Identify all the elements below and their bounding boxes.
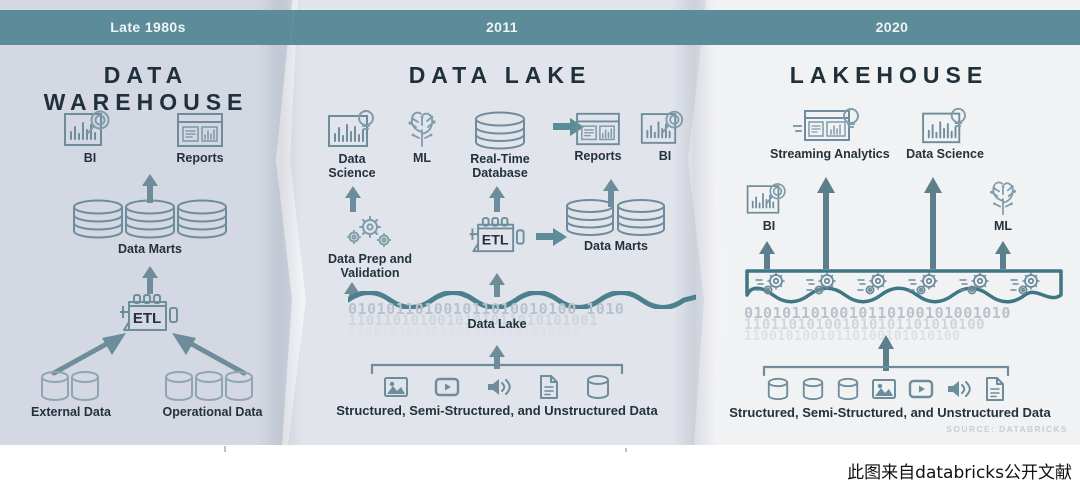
dw-node-reports: Reports [160,110,240,166]
brain-circuit-icon [400,108,444,150]
database-icon [766,377,790,401]
lh-source-icon-row [760,376,1012,402]
dl-node-data-prep: Data Prep and Validation [315,216,425,280]
dl-node-etl: ETL [462,214,534,260]
lh-arrow-engine-to-streaming [815,176,837,270]
lh-node-streaming-analytics-label: Streaming Analytics [770,148,886,162]
document-icon [538,374,560,400]
bar-chart-bulb-icon [919,106,971,146]
cylinder-group-icon [161,368,265,404]
audio-icon [945,377,973,401]
dl-node-bi: BI [634,108,696,164]
dl-node-data-science: Data Science [318,108,386,180]
bar-chart-magnifier-icon [745,180,793,218]
bar-chart-bulb-icon [326,108,378,150]
lh-node-ml-label: ML [975,220,1031,234]
database-cylinders-icon [55,197,245,241]
video-icon [434,376,460,398]
lakehouse-evolution-figure: Late 1980s 2011 2020 DATA WAREHOUSE DATA… [0,0,1080,445]
cylinder-group-icon [35,368,107,404]
lh-arrow-engine-to-bi [757,240,777,270]
dl-node-data-marts-label: Data Marts [556,240,676,254]
database-cylinders-icon [564,196,668,238]
lh-arrow-engine-to-ml [993,240,1013,270]
panel-title-data-warehouse: DATA WAREHOUSE [0,62,292,116]
dl-node-data-marts: Data Marts [556,196,676,254]
dl-node-real-time-database: Real-Time Database [455,108,545,180]
dw-node-data-marts: Data Marts [45,197,255,257]
video-icon [908,378,934,400]
lh-node-bi: BI [738,180,800,234]
database-cylinder-icon [472,108,528,150]
lh-node-ml: ML [975,178,1031,234]
gear-row-wave-icon [744,268,1064,306]
document-icon [984,376,1006,402]
dl-arrow-prep-to-science [343,185,363,213]
dl-node-reports: Reports [560,110,636,164]
dw-node-bi-label: BI [55,152,125,166]
dl-source-bracket [370,362,624,374]
lh-node-data-science-label: Data Science [900,148,990,162]
dl-node-data-prep-label: Data Prep and Validation [315,252,425,280]
dl-arrow-etl-to-db [487,185,507,213]
dl-water-wave-icon [348,291,696,309]
figure-caption: 此图来自databricks公开文献 [847,458,1072,483]
image-icon [871,377,897,401]
dl-node-real-time-database-label: Real-Time Database [455,152,545,180]
audio-icon [485,375,513,399]
image-icon [383,375,409,399]
database-icon [836,377,860,401]
dw-arrow-etl-to-marts [139,265,161,295]
panel-title-data-lake: DATA LAKE [288,62,712,89]
database-icon [801,377,825,401]
gears-icon [340,216,400,250]
lh-node-data-science: Data Science [900,106,990,162]
etl-engine-icon: ETL [462,214,534,260]
dl-node-data-science-label: Data Science [318,152,386,180]
era-label-2020: 2020 [706,10,1078,45]
svg-text:ETL: ETL [133,310,161,327]
dashboard-report-icon [174,110,226,150]
dw-node-external-data: External Data [12,368,130,420]
svg-text:ETL: ETL [482,233,509,249]
database-icon [585,374,611,400]
lh-sources-label: Structured, Semi-Structured, and Unstruc… [710,405,1070,420]
panel-title-lakehouse: LAKEHOUSE [702,62,1076,89]
lh-source-bracket [762,364,1010,376]
bar-chart-magnifier-icon [639,108,691,148]
dw-node-bi: BI [55,108,125,166]
lh-node-streaming-analytics: Streaming Analytics [770,106,886,162]
screenshot-root: Late 1980s 2011 2020 DATA WAREHOUSE DATA… [0,0,1080,500]
bar-chart-magnifier-icon [62,108,118,150]
lh-node-lakehouse-engine [744,268,1064,306]
dw-node-reports-label: Reports [160,152,240,166]
crop-tick-left [224,446,226,452]
dw-node-operational-data: Operational Data [140,368,285,420]
dl-node-ml: ML [395,108,449,166]
era-label-late-1980s: Late 1980s [0,10,296,45]
dl-source-icon-row [370,374,624,400]
lh-node-bi-label: BI [738,220,800,234]
dl-node-bi-label: BI [634,150,696,164]
dl-sources-label: Structured, Semi-Structured, and Unstruc… [322,403,672,418]
dl-node-ml-label: ML [395,152,449,166]
dl-node-reports-label: Reports [560,150,636,164]
lh-arrow-engine-to-datascience [922,176,944,270]
crop-tick-right [625,448,627,452]
dashboard-report-icon [573,110,623,148]
dl-label-data-lake: Data Lake [432,317,562,331]
brain-circuit-icon [981,178,1025,218]
dw-node-external-data-label: External Data [12,406,130,420]
source-note: SOURCE: DATABRICKS [946,424,1068,434]
dw-node-data-marts-label: Data Marts [45,243,255,257]
dashboard-bulb-icon [793,106,863,146]
era-label-2011: 2011 [292,10,712,45]
dw-node-operational-data-label: Operational Data [140,406,285,420]
